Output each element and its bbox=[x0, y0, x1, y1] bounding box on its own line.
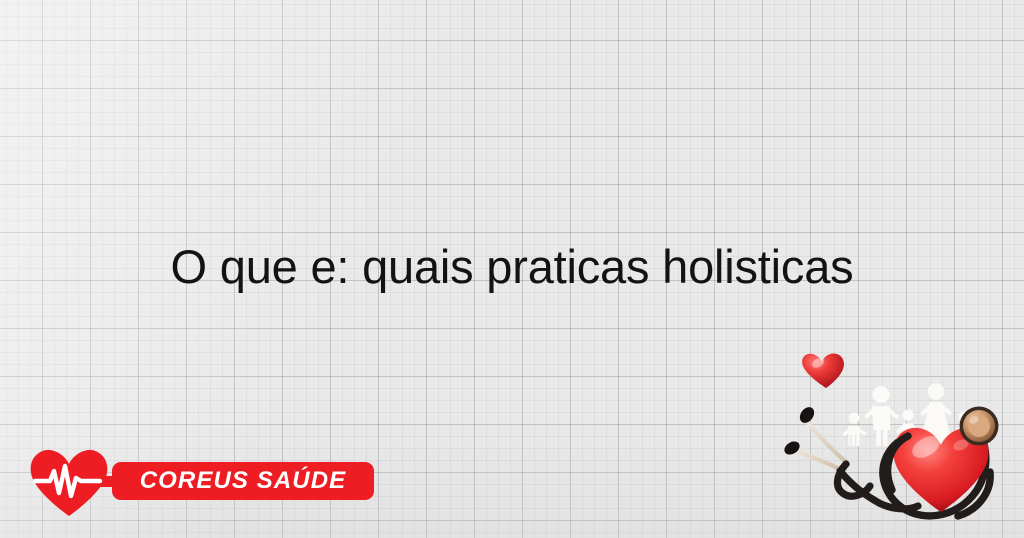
stethoscope-ear-tips bbox=[782, 404, 817, 457]
brand-logo: COREUS SAÚDE bbox=[28, 448, 358, 518]
family-health-stethoscope-illustration bbox=[778, 352, 1024, 538]
stethoscope-chest-piece bbox=[960, 407, 999, 446]
brand-badge: COREUS SAÚDE bbox=[112, 462, 374, 500]
stethoscope-ear-tubes bbox=[792, 418, 848, 470]
page-title: O que e: quais praticas holisticas bbox=[0, 238, 1024, 296]
small-red-heart-icon bbox=[802, 354, 844, 389]
brand-name-label: COREUS SAÚDE bbox=[140, 467, 347, 495]
slide-canvas: O que e: quais praticas holisticas COREU… bbox=[0, 0, 1024, 538]
